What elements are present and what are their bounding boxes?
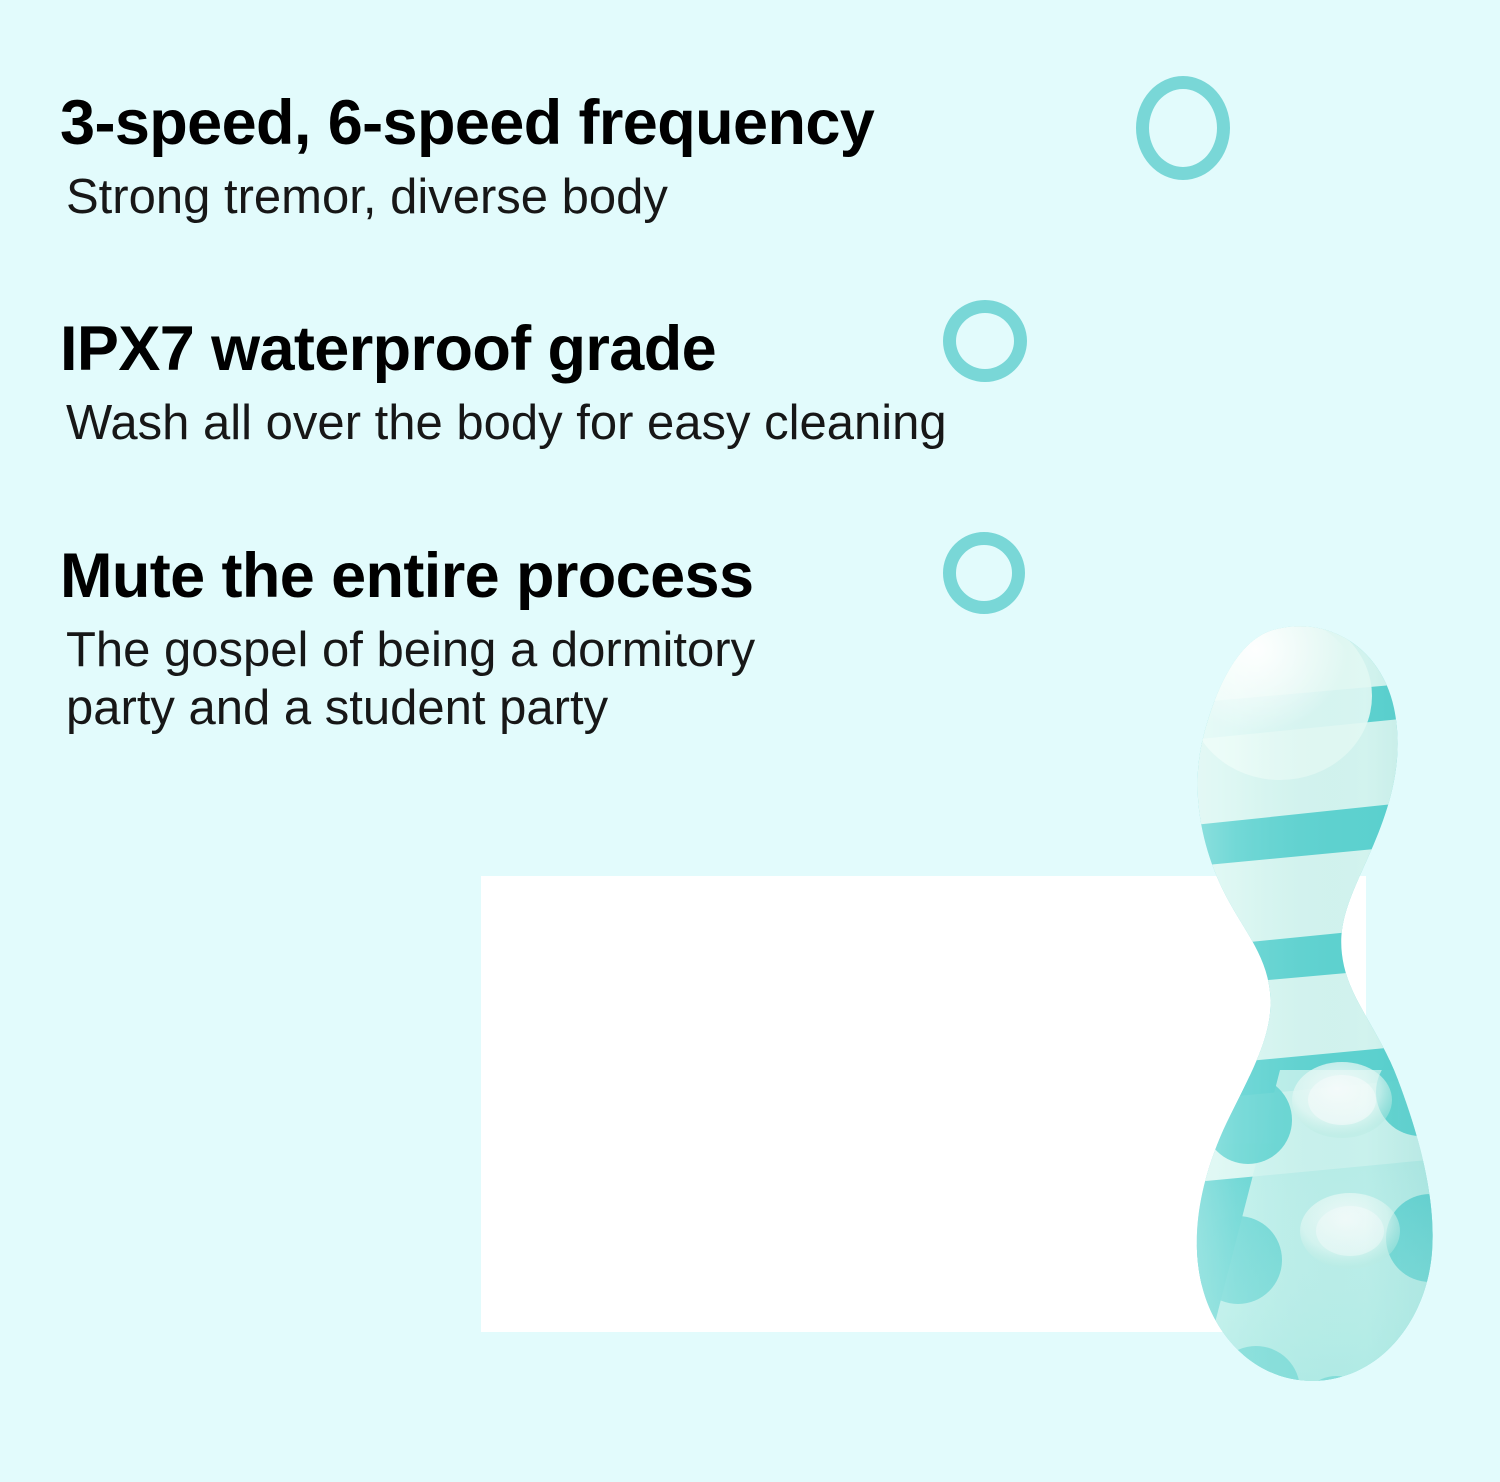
ring-marker-icon-1	[1136, 76, 1230, 180]
feature-block-3: Mute the entire process The gospel of be…	[60, 545, 755, 738]
feature-block-1: 3-speed, 6-speed frequency Strong tremor…	[60, 92, 874, 227]
feature-subtitle-2: Wash all over the body for easy cleaning	[66, 395, 947, 453]
feature-title-3: Mute the entire process	[60, 545, 755, 608]
promo-page: 3-speed, 6-speed frequency Strong tremor…	[0, 0, 1500, 1482]
feature-subtitle-3: The gospel of being a dormitory party an…	[66, 622, 755, 738]
ring-marker-icon-2	[943, 300, 1027, 382]
ring-marker-icon-3	[943, 532, 1025, 614]
feature-title-1: 3-speed, 6-speed frequency	[60, 92, 874, 155]
feature-block-2: IPX7 waterproof grade Wash all over the …	[60, 318, 947, 453]
feature-title-2: IPX7 waterproof grade	[60, 318, 947, 381]
feature-subtitle-1: Strong tremor, diverse body	[66, 169, 874, 227]
white-content-card	[481, 876, 1366, 1332]
